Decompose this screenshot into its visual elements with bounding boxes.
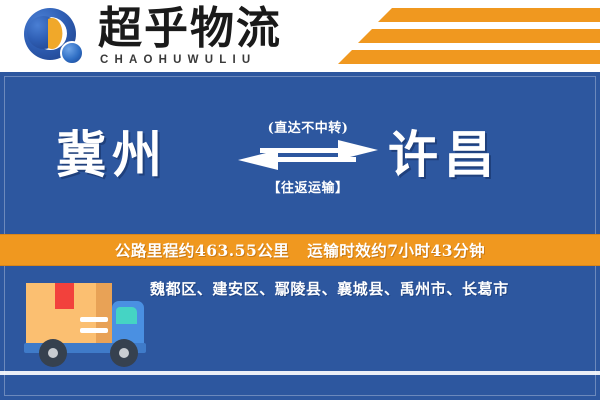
stripe-1 [378,8,600,22]
truck-wheel-front [110,339,138,367]
route-row: 冀州 (直达不中转) 【往返运输】 许昌 [0,95,600,205]
truck-box-label [55,283,74,309]
route-middle: (直达不中转) 【往返运输】 [238,95,378,205]
route-note-top: (直达不中转) [238,117,378,136]
destination-city: 许昌 [388,115,500,187]
road-line [0,371,600,375]
truck-wheel-rear [39,339,67,367]
info-bar: 公路里程约463.55公里运输时效约7小时43分钟 [0,234,600,266]
truck-cargo-box-shade [96,283,112,343]
brand-name-pinyin: CHAOHUWULIU [100,54,282,66]
coverage-areas-text: 魏都区、建安区、鄢陵县、襄城县、禹州市、长葛市 [150,278,590,302]
stripe-2 [358,29,600,43]
origin-city: 冀州 [56,115,168,187]
duration-label: 运输时效约7小时43分钟 [307,241,485,260]
brand-name-cn: 超乎物流 [98,6,282,52]
truck-window [116,307,137,324]
info-bar-text: 公路里程约463.55公里运输时效约7小时43分钟 [115,239,485,261]
distance-label: 公路里程约463.55公里 [115,241,289,260]
brand-text: 超乎物流 CHAOHUWULIU [98,6,282,66]
brand-logo-icon [24,8,86,66]
route-note-bottom: 【往返运输】 [238,177,378,196]
double-headed-arrow-icon [238,140,378,172]
speed-stripes-decoration [330,8,600,64]
logistics-route-banner: 超乎物流 CHAOHUWULIU 冀州 (直达不中转) 【往返运输】 许昌 公路… [0,0,600,400]
truck-stripe-2 [80,328,108,333]
stripe-3 [338,50,600,64]
logo-dot-shape [60,41,84,65]
truck-stripe-1 [80,317,108,322]
header: 超乎物流 CHAOHUWULIU [0,0,600,72]
delivery-truck-icon [24,277,164,373]
